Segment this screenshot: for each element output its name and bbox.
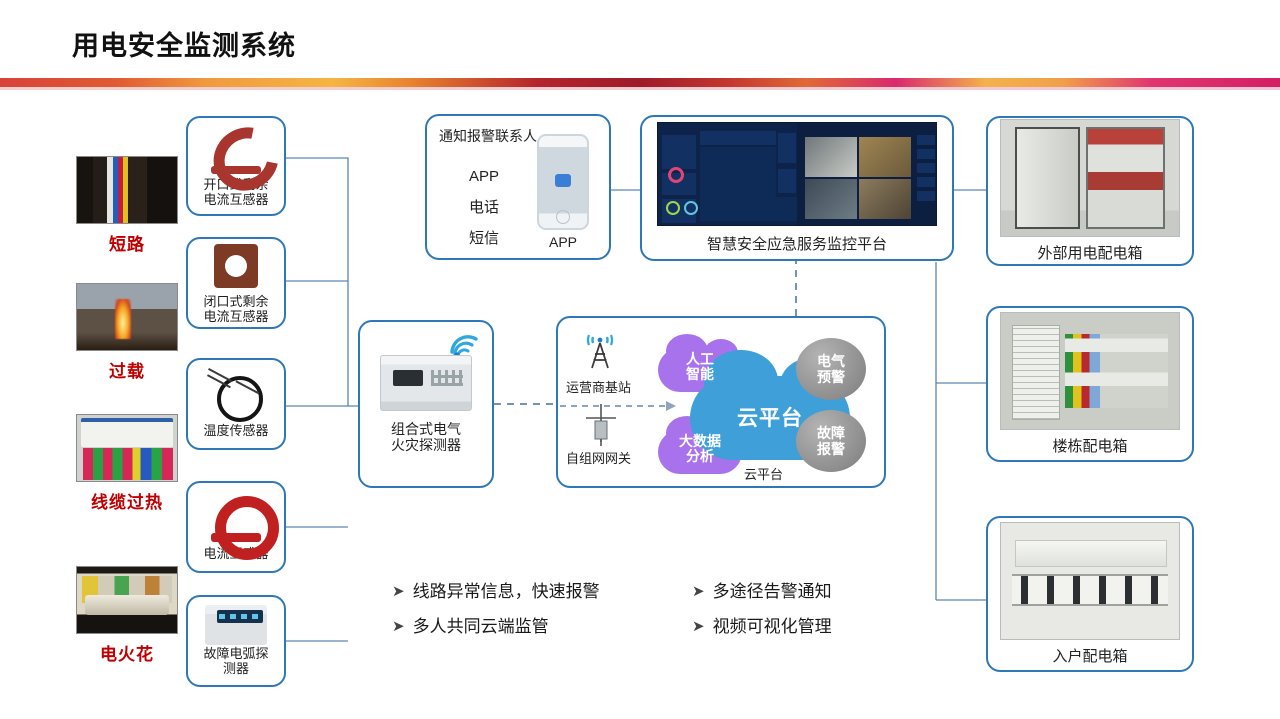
building-fire-photo [76, 283, 178, 351]
sensor-card-temperature[interactable]: 温度传感器 [186, 358, 286, 450]
building-distribution-box-photo [1000, 312, 1180, 430]
bigdata-cloud-line2: 分析 [686, 448, 714, 464]
hazard-label: 过载 [76, 357, 178, 382]
sensor-caption-line2: 电流互感器 [203, 192, 268, 207]
ai-cloud-line2: 智能 [686, 366, 714, 382]
cloud-caption: 云平台 [744, 464, 783, 483]
cloud-platform-text: 云平台 [690, 402, 850, 432]
sensor-caption-line1: 故障电弧探 [203, 646, 268, 661]
detector-caption-line2: 火灾探测器 [391, 437, 461, 453]
bullet-item: ➤ 多途径告警通知 [692, 580, 892, 605]
platform-caption: 智慧安全应急服务监控平台 [703, 234, 891, 253]
breaker-wiring-photo [76, 414, 178, 482]
detector-caption: 组合式电气 火灾探测器 [387, 419, 465, 453]
alarm-notification-card[interactable]: 通知报警联系人 APP 电话 短信 APP [425, 114, 611, 260]
hazard-label: 电火花 [76, 640, 178, 665]
decorative-accent-bar [0, 78, 1280, 87]
sensor-card-arc-fault-detector[interactable]: 故障电弧探 测器 [186, 595, 286, 687]
panel-caption: 外部用电配电箱 [1033, 243, 1146, 262]
smartphone-icon [537, 134, 589, 230]
panel-caption: 入户配电箱 [1048, 646, 1131, 665]
hazard-item: 短路 [76, 156, 178, 255]
cloud-platform-card[interactable]: 运营商基站 自组网网关 人工 智能 大数据 分析 [556, 316, 886, 488]
electrical-warning-text: 电气 预警 [817, 353, 845, 385]
bullet-arrow-icon: ➤ [692, 580, 705, 604]
notify-channel-phone: 电话 [469, 193, 499, 224]
notify-title: 通知报警联系人 [439, 126, 537, 146]
arc-fault-detector-icon [205, 605, 267, 645]
outdoor-distribution-box-photo [1000, 119, 1180, 237]
hazard-item: 电火花 [76, 566, 178, 665]
bullet-text: 线路异常信息，快速报警 [413, 580, 600, 605]
monitoring-platform-card[interactable]: 智慧安全应急服务监控平台 [640, 115, 954, 261]
temperature-sensor-icon [201, 370, 271, 422]
detector-device-photo [380, 355, 472, 411]
electrical-warning-bubble: 电气 预警 [796, 338, 866, 400]
bigdata-cloud: 大数据 分析 [658, 430, 742, 474]
cable-short-circuit-photo [76, 156, 178, 224]
sensor-caption-line1: 闭口式剩余 [203, 294, 268, 309]
sensor-caption: 闭口式剩余 电流互感器 [199, 293, 272, 325]
notify-channel-list: APP 电话 短信 [469, 162, 499, 254]
page-title: 用电安全监测系统 [72, 24, 296, 63]
hazard-item: 过载 [76, 283, 178, 382]
combined-electrical-fire-detector-card[interactable]: 组合式电气 火灾探测器 [358, 320, 494, 488]
slide-canvas: 用电安全监测系统 短路 过载 线缆过 [0, 0, 1280, 719]
bullet-text: 多人共同云端监管 [413, 615, 549, 640]
dashboard-right-pane [797, 123, 936, 225]
sensor-caption-line2: 测器 [223, 661, 249, 676]
hazard-label: 线缆过热 [76, 488, 178, 513]
ai-cloud-line1: 人工 [686, 351, 714, 367]
bullet-text: 视频可视化管理 [713, 615, 832, 640]
sensor-caption-line2: 电流互感器 [203, 309, 268, 324]
bullet-item: ➤ 线路异常信息，快速报警 [392, 580, 692, 605]
bigdata-cloud-line1: 大数据 [679, 433, 721, 449]
current-transformer-icon [201, 493, 271, 545]
panel-caption: 楼栋配电箱 [1048, 436, 1131, 455]
notify-channel-sms: 短信 [469, 224, 499, 255]
household-distribution-box-photo [1000, 522, 1180, 640]
distribution-box-card-outdoor[interactable]: 外部用电配电箱 [986, 116, 1194, 266]
sensor-caption: 温度传感器 [199, 422, 272, 439]
bullet-item: ➤ 视频可视化管理 [692, 615, 892, 640]
sensor-caption: 故障电弧探 测器 [199, 645, 272, 677]
distribution-box-card-building[interactable]: 楼栋配电箱 [986, 306, 1194, 462]
bullet-arrow-icon: ➤ [392, 580, 405, 604]
power-strip-spark-photo [76, 566, 178, 634]
fault-alarm-line2: 报警 [817, 441, 845, 457]
notify-channel-app: APP [469, 162, 499, 193]
bullet-text: 多途径告警通知 [713, 580, 832, 605]
sensor-card-closed-ct[interactable]: 闭口式剩余 电流互感器 [186, 237, 286, 329]
bullet-arrow-icon: ➤ [692, 615, 705, 639]
bullet-item: ➤ 多人共同云端监管 [392, 615, 692, 640]
distribution-box-card-household[interactable]: 入户配电箱 [986, 516, 1194, 672]
closed-type-residual-current-transformer-icon [201, 241, 271, 293]
ai-cloud-text: 人工 智能 [658, 352, 742, 383]
open-type-residual-current-transformer-icon [201, 124, 271, 176]
sensor-card-open-ct[interactable]: 开口式剩余 电流互感器 [186, 116, 286, 216]
sensor-card-current-transformer[interactable]: 电流互感器 [186, 481, 286, 573]
phone-caption: APP [537, 234, 589, 250]
electrical-warning-line1: 电气 [817, 353, 845, 369]
dashboard-left-pane [658, 123, 797, 225]
electrical-warning-line2: 预警 [817, 369, 845, 385]
hazard-label: 短路 [76, 230, 178, 255]
hazard-item: 线缆过热 [76, 414, 178, 513]
bullet-arrow-icon: ➤ [392, 615, 405, 639]
bigdata-cloud-text: 大数据 分析 [658, 434, 742, 465]
detector-caption-line1: 组合式电气 [391, 421, 461, 437]
monitoring-dashboard-screenshot [657, 122, 937, 226]
feature-bullet-list: ➤ 线路异常信息，快速报警 ➤ 多途径告警通知 ➤ 多人共同云端监管 ➤ 视频可… [392, 580, 892, 649]
